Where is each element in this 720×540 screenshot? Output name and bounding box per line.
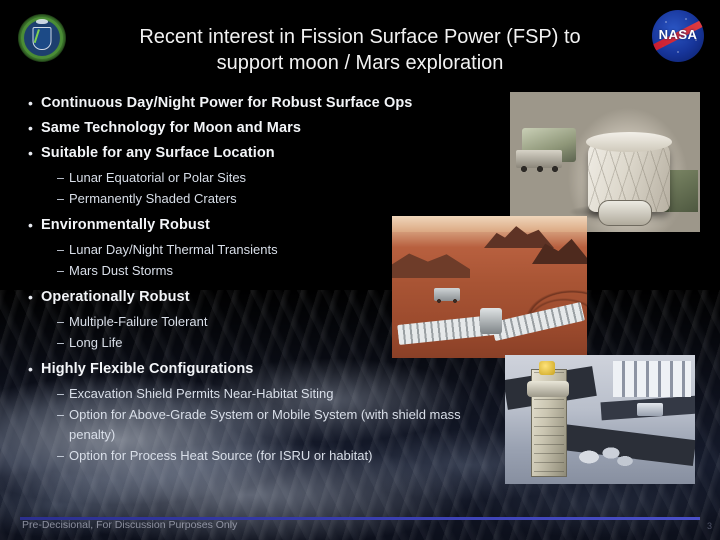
footer-text: Pre-Decisional, For Discussion Purposes … [22,519,237,531]
dash-marker-icon: – [57,240,69,260]
photo-lunar-habitat-base [510,92,700,232]
bullet-level2: – Permanently Shaded Craters [28,189,498,209]
nasa-logo-icon: NASA [652,10,704,62]
bullet-text: Lunar Day/Night Thermal Transients [69,240,278,260]
doe-seal-eagle [36,19,48,24]
fsp-drum [527,381,569,397]
bullet-text: Continuous Day/Night Power for Robust Su… [41,93,412,114]
bullet-text: Permanently Shaded Craters [69,189,237,209]
bullet-level2: – Option for Process Heat Source (for IS… [28,446,498,466]
bullet-subgroup: – Excavation Shield Permits Near-Habitat… [28,384,498,466]
bullet-level1: • Suitable for any Surface Location [28,143,498,164]
dash-marker-icon: – [57,168,69,188]
bullet-text: Option for Above-Grade System or Mobile … [69,405,498,445]
mars-sky [392,216,587,232]
mars-rover [434,288,460,301]
bullet-text: Long Life [69,333,123,353]
bullet-marker-icon: • [28,143,41,164]
dash-marker-icon: – [57,261,69,281]
page-title: Recent interest in Fission Surface Power… [80,24,640,76]
doe-seal-icon [18,14,66,62]
page-title-line-2: support moon / Mars exploration [80,50,640,76]
bullet-text: Same Technology for Moon and Mars [41,118,301,139]
bullet-level1: • Same Technology for Moon and Mars [28,118,498,139]
bullet-text: Lunar Equatorial or Polar Sites [69,168,246,188]
fsp-gold-insulation [539,361,555,375]
fsp-regolith-rocks [575,443,633,469]
mars-power-hub [480,308,502,334]
photo-lunar-fission-power-hardware [505,355,695,484]
slide-canvas: NASA Recent interest in Fission Surface … [0,0,720,540]
fsp-cart [637,403,663,416]
habitat-rover [516,150,562,168]
dash-marker-icon: – [57,446,69,466]
habitat-airlock [598,200,652,226]
doe-seal-shield [33,27,52,50]
bullet-marker-icon: • [28,215,41,236]
bullet-text: Environmentally Robust [41,215,210,236]
bullet-text: Excavation Shield Permits Near-Habitat S… [69,384,333,404]
dash-marker-icon: – [57,384,69,404]
photo-mars-surface-power-radiators [392,216,587,358]
bullet-level2: – Option for Above-Grade System or Mobil… [28,405,498,445]
fsp-cargo-crates [613,361,691,397]
bullet-text: Suitable for any Surface Location [41,143,275,164]
bullet-marker-icon: • [28,93,41,114]
bullet-text: Operationally Robust [41,287,190,308]
dash-marker-icon: – [57,333,69,353]
bullet-marker-icon: • [28,359,41,380]
bullet-marker-icon: • [28,287,41,308]
bullet-subgroup: – Lunar Equatorial or Polar Sites – Perm… [28,168,498,209]
habitat-dome-cap [586,132,672,152]
bullet-text: Multiple-Failure Tolerant [69,312,208,332]
dash-marker-icon: – [57,312,69,332]
bullet-text: Option for Process Heat Source (for ISRU… [69,446,372,466]
page-number: 3 [707,521,712,531]
bullet-level1: • Continuous Day/Night Power for Robust … [28,93,498,114]
bullet-marker-icon: • [28,118,41,139]
bullet-level2: – Excavation Shield Permits Near-Habitat… [28,384,498,404]
page-title-line-1: Recent interest in Fission Surface Power… [80,24,640,50]
bullet-text: Mars Dust Storms [69,261,173,281]
dash-marker-icon: – [57,405,69,425]
bullet-text: Highly Flexible Configurations [41,359,253,380]
bullet-level1: • Highly Flexible Configurations [28,359,498,380]
bullet-level2: – Lunar Equatorial or Polar Sites [28,168,498,188]
nasa-wordmark: NASA [652,27,704,42]
dash-marker-icon: – [57,189,69,209]
